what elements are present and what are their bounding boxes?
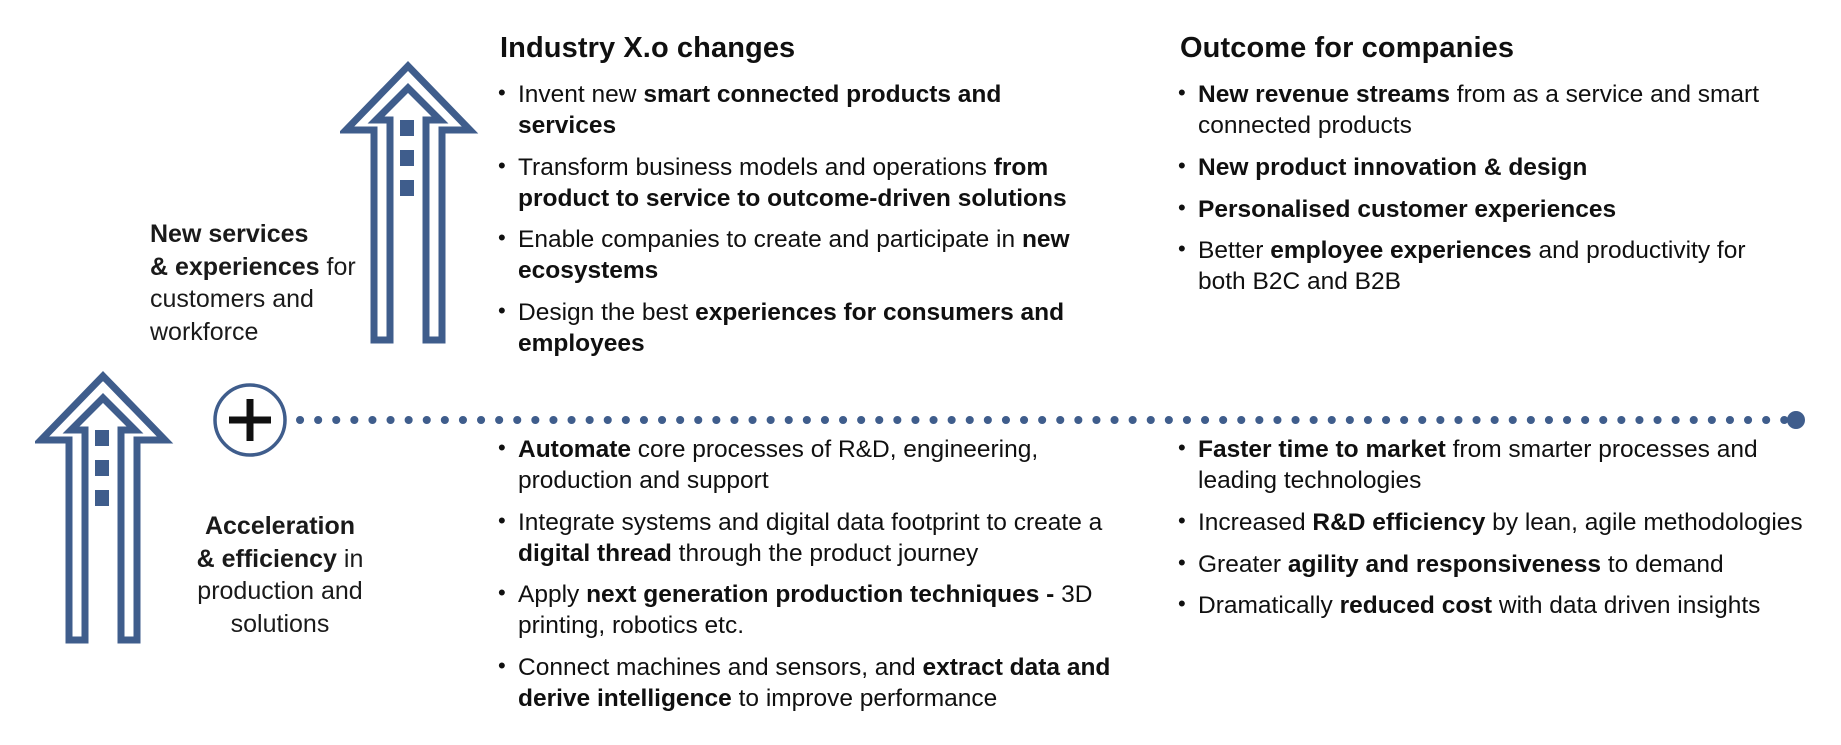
- bullet-text-bold: Personalised customer experiences: [1198, 196, 1616, 223]
- bullet-text: Invent new: [518, 81, 643, 108]
- bullet-item: New revenue streams from as a service an…: [1176, 80, 1796, 142]
- label-acceleration-line3: production and: [130, 575, 430, 608]
- bullet-item: Personalised customer experiences: [1176, 195, 1796, 226]
- bullet-text: through the product journey: [672, 540, 978, 567]
- bullet-text-bold: Automate: [518, 436, 631, 463]
- label-new-services-line3: customers and: [150, 283, 415, 316]
- bullet-item: Invent new smart connected products and …: [496, 80, 1096, 142]
- diagram-canvas: New services & experiences for customers…: [0, 0, 1841, 745]
- bullet-item: Dramatically reduced cost with data driv…: [1176, 591, 1826, 622]
- bullet-item: Transform business models and operations…: [496, 153, 1096, 215]
- label-acceleration-line2-bold: & efficiency: [197, 545, 337, 573]
- bullets-industry-changes: Invent new smart connected products and …: [496, 80, 1096, 371]
- bullet-item: Greater agility and responsiveness to de…: [1176, 550, 1826, 581]
- bullet-text-bold: digital thread: [518, 540, 672, 567]
- bullet-text: with data driven insights: [1492, 592, 1760, 619]
- bullet-item: Design the best experiences for consumer…: [496, 298, 1096, 360]
- bullet-text: Transform business models and operations: [518, 154, 994, 181]
- bullet-text-bold: next generation production techniques -: [586, 581, 1054, 608]
- label-acceleration-line2-rest: in: [337, 545, 363, 573]
- bullet-text: Integrate systems and digital data footp…: [518, 509, 1102, 536]
- bullet-text: by lean, agile methodologies: [1485, 509, 1802, 536]
- bullet-text: Better: [1198, 237, 1270, 264]
- bullet-text: Connect machines and sensors, and: [518, 654, 923, 681]
- heading-industry-changes: Industry X.o changes: [500, 32, 795, 65]
- label-new-services-line2-bold: & experiences: [150, 253, 320, 281]
- label-new-services-line4: workforce: [150, 316, 415, 349]
- bullet-text-bold: New product innovation & design: [1198, 154, 1587, 181]
- bullet-item: Enable companies to create and participa…: [496, 225, 1096, 287]
- bullet-item: Better employee experiences and producti…: [1176, 236, 1796, 298]
- bullet-item: Apply next generation production techniq…: [496, 580, 1116, 642]
- label-new-services-line1: New services: [150, 220, 308, 248]
- bullet-text: Dramatically: [1198, 592, 1340, 619]
- label-acceleration-line1: Acceleration: [205, 512, 355, 540]
- plus-connector-icon: [210, 380, 290, 460]
- bullet-text: Design the best: [518, 299, 695, 326]
- label-new-services-line2-rest: for: [320, 253, 356, 281]
- bullet-text-bold: reduced cost: [1340, 592, 1493, 619]
- label-new-services: New services & experiences for customers…: [150, 218, 415, 348]
- label-acceleration-efficiency: Acceleration & efficiency in production …: [130, 510, 430, 640]
- bullet-item: Increased R&D efficiency by lean, agile …: [1176, 508, 1826, 539]
- bullet-text: Greater: [1198, 551, 1288, 578]
- bullet-text: Apply: [518, 581, 586, 608]
- dotted-divider-line: [296, 410, 1808, 430]
- bullet-text-bold: agility and responsiveness: [1288, 551, 1601, 578]
- heading-outcome-companies: Outcome for companies: [1180, 32, 1514, 65]
- bullet-text: Enable companies to create and participa…: [518, 226, 1022, 253]
- bullet-item: Connect machines and sensors, and extrac…: [496, 653, 1116, 715]
- bullet-text-bold: New revenue streams: [1198, 81, 1450, 108]
- bullet-text-bold: R&D efficiency: [1312, 509, 1485, 536]
- bullet-item: New product innovation & design: [1176, 153, 1796, 184]
- bullet-text-bold: Faster time to market: [1198, 436, 1446, 463]
- bullet-text: Increased: [1198, 509, 1312, 536]
- bullet-item: Faster time to market from smarter proce…: [1176, 435, 1826, 497]
- bullets-acceleration-outcomes: Faster time to market from smarter proce…: [1176, 435, 1826, 633]
- bullets-acceleration-changes: Automate core processes of R&D, engineer…: [496, 435, 1116, 726]
- bullet-item: Automate core processes of R&D, engineer…: [496, 435, 1116, 497]
- bullet-item: Integrate systems and digital data footp…: [496, 508, 1116, 570]
- bullet-text: to improve performance: [732, 685, 998, 712]
- bullet-text-bold: employee experiences: [1270, 237, 1532, 264]
- label-acceleration-line4: solutions: [130, 608, 430, 641]
- bullets-outcome-companies: New revenue streams from as a service an…: [1176, 80, 1796, 309]
- bullet-text: to demand: [1601, 551, 1724, 578]
